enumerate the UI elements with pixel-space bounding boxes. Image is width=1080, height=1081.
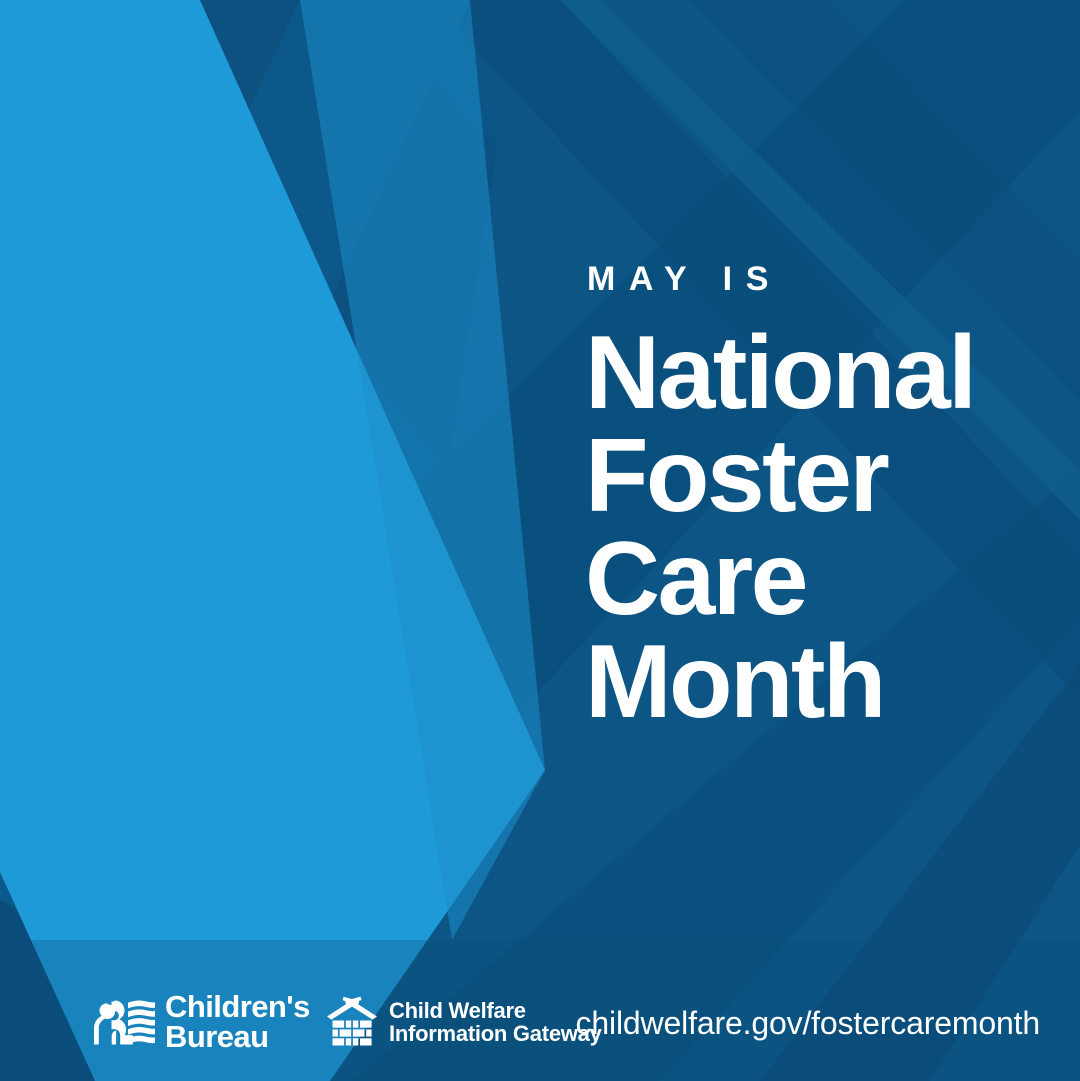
- childrens-bureau-line-1: Children's: [165, 992, 310, 1022]
- two-profiles-flag-icon: [92, 996, 156, 1048]
- childrens-bureau-logo: Children's Bureau: [92, 991, 310, 1053]
- title-line-3: Care: [585, 528, 1055, 631]
- childrens-bureau-wordmark: Children's Bureau: [165, 992, 310, 1052]
- headline-block: MAY IS National Foster Care Month: [585, 262, 1055, 734]
- title-line-1: National: [585, 322, 1055, 425]
- information-gateway-line-1: Child Welfare: [389, 999, 602, 1022]
- childrens-bureau-line-2: Bureau: [165, 1022, 310, 1052]
- eyebrow-text: MAY IS: [587, 262, 1055, 296]
- information-gateway-wordmark: Child Welfare Information Gateway: [389, 999, 602, 1046]
- poster-content: MAY IS National Foster Care Month: [0, 0, 1080, 1081]
- title-line-4: Month: [585, 631, 1055, 734]
- information-gateway-logo: Child Welfare Information Gateway: [325, 993, 602, 1051]
- title-line-2: Foster: [585, 425, 1055, 528]
- poster-canvas: MAY IS National Foster Care Month: [0, 0, 1080, 1081]
- house-icon: [325, 995, 379, 1049]
- website-url[interactable]: childwelfare.gov/fostercaremonth: [576, 1005, 1040, 1042]
- footer-bar: Children's Bureau: [0, 983, 1080, 1053]
- information-gateway-line-2: Information Gateway: [389, 1022, 602, 1045]
- page-title: National Foster Care Month: [585, 322, 1055, 734]
